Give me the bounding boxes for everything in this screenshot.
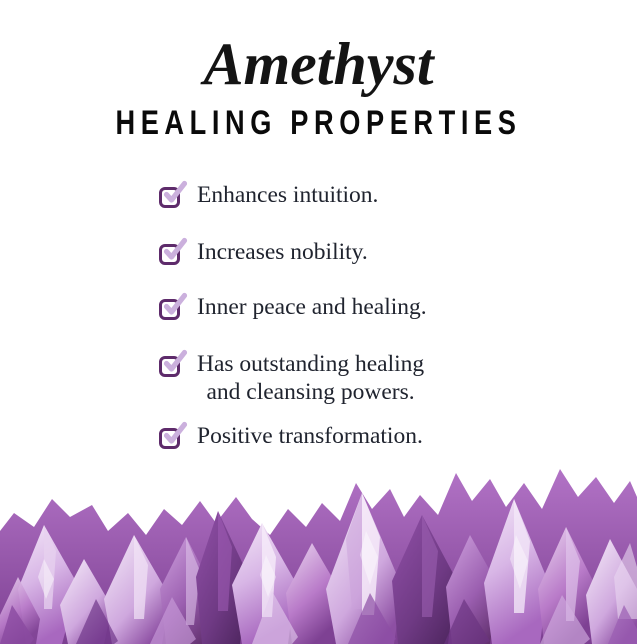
checkmark-glyph xyxy=(160,292,188,320)
list-item-label: Inner peace and healing. xyxy=(197,294,427,322)
list-item-label: Increases nobility. xyxy=(197,239,368,267)
page-title: Amethyst xyxy=(0,34,637,94)
checked-checkbox-icon xyxy=(159,298,182,321)
list-item: Inner peace and healing. xyxy=(159,294,579,322)
list-item-label: Has outstanding healing and cleansing po… xyxy=(197,351,424,406)
list-item: Increases nobility. xyxy=(159,239,579,267)
list-item: Enhances intuition. xyxy=(159,182,579,210)
list-item-label: Enhances intuition. xyxy=(197,182,378,210)
amethyst-healing-properties-poster: Amethyst HEALING PROPERTIES Enhances int… xyxy=(0,0,637,644)
checked-checkbox-icon xyxy=(159,186,182,209)
poster-header: Amethyst HEALING PROPERTIES xyxy=(0,34,637,140)
checkmark-glyph xyxy=(160,237,188,265)
page-subtitle: HEALING PROPERTIES xyxy=(64,106,574,140)
checked-checkbox-icon xyxy=(159,355,182,378)
list-item: Has outstanding healing and cleansing po… xyxy=(159,351,579,406)
amethyst-crystal-cluster-image xyxy=(0,439,637,644)
checked-checkbox-icon xyxy=(159,243,182,266)
healing-properties-list: Enhances intuition. Increases nobility. xyxy=(159,182,579,450)
checkmark-glyph xyxy=(160,349,188,377)
checkmark-glyph xyxy=(160,180,188,208)
